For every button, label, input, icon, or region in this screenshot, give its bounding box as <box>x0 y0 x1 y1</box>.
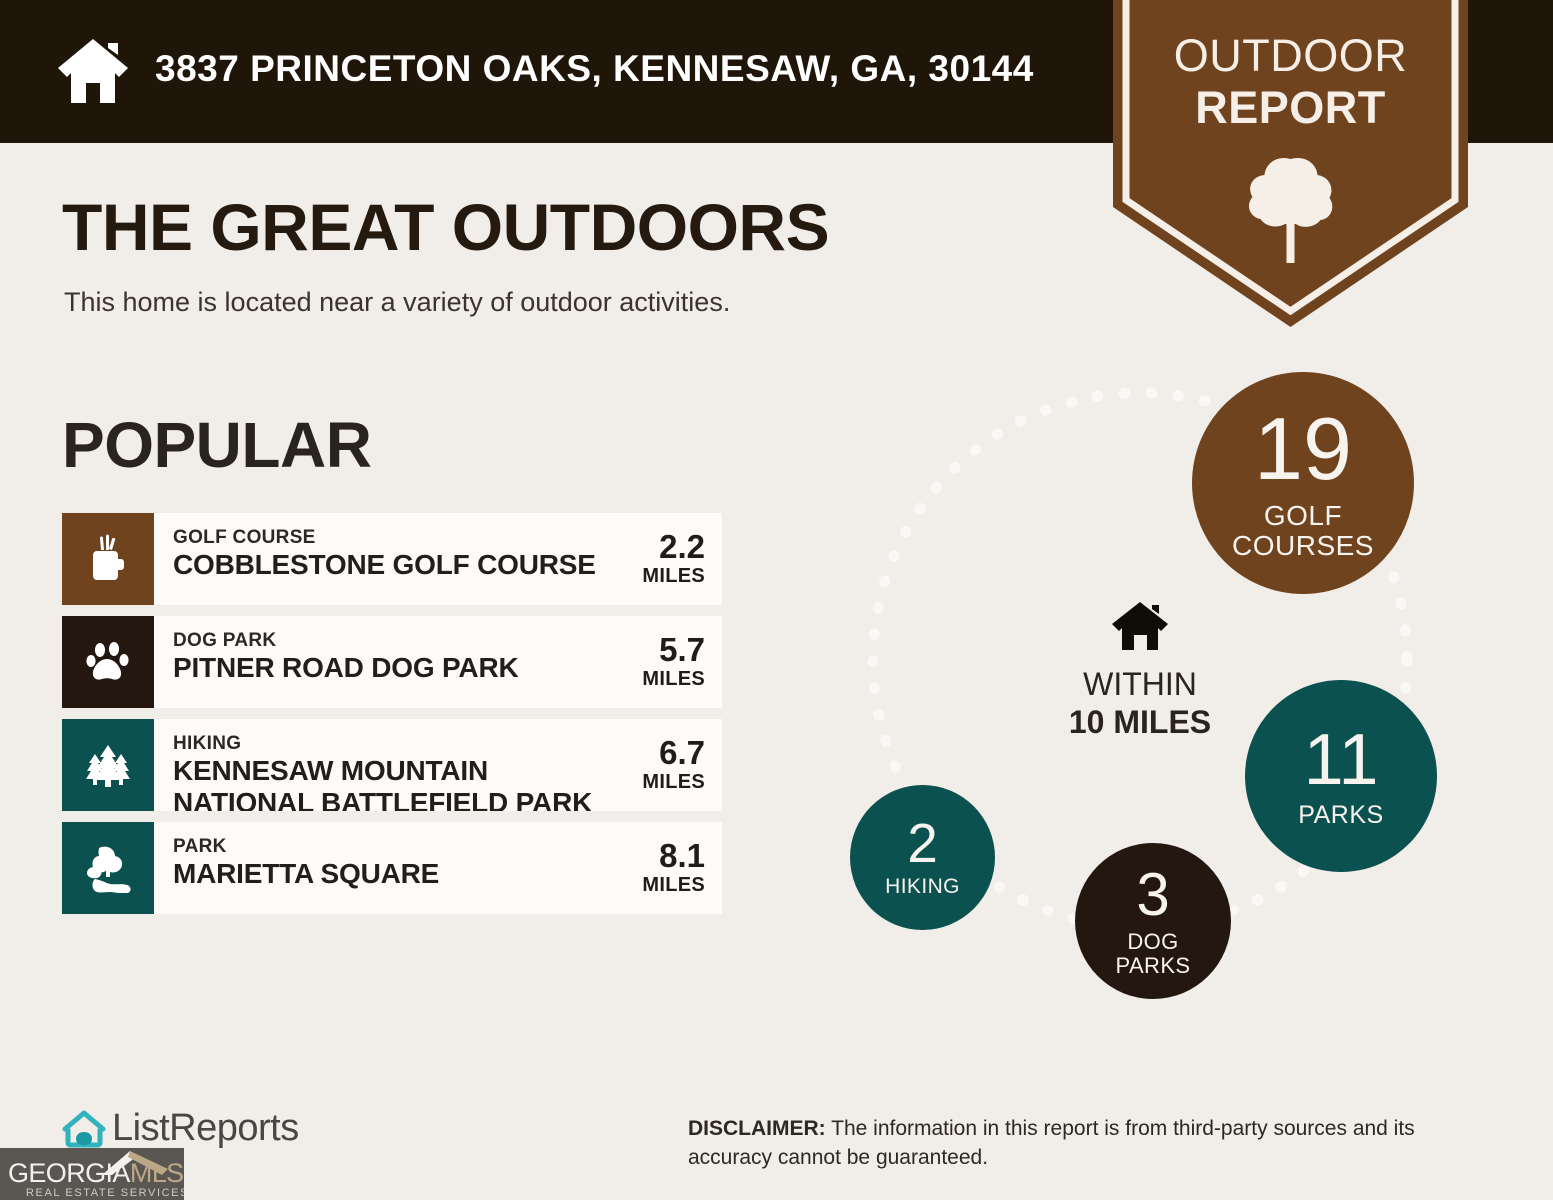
section-title-popular: POPULAR <box>62 408 371 482</box>
center-line-1: WITHIN <box>1010 665 1270 703</box>
list-item-distance: 8.1 MILES <box>622 822 722 914</box>
page-title: THE GREAT OUTDOORS <box>62 189 829 265</box>
list-item-icon-tile <box>62 513 154 605</box>
outdoor-report-badge: OUTDOOR REPORT <box>1113 0 1468 327</box>
listreports-logo[interactable]: ListReports <box>62 1107 299 1150</box>
within-10-miles-diagram: 19 GOLF COURSES 11 PARKS 3 DOG PARKS 2 H… <box>820 360 1460 1020</box>
mls-wordmark: GEORGIAMLS <box>8 1158 184 1189</box>
badge-title: OUTDOOR REPORT <box>1113 30 1468 134</box>
stat-label-line1: GOLF <box>1264 501 1342 531</box>
badge-line-2: REPORT <box>1113 82 1468 134</box>
listreports-wordmark: ListReports <box>112 1107 299 1150</box>
mls-word-georgia: GEORGIA <box>8 1158 130 1188</box>
disclaimer-label: DISCLAIMER: <box>688 1117 826 1140</box>
distance-unit: MILES <box>622 564 705 588</box>
popular-list: GOLF COURSE COBBLESTONE GOLF COURSE 2.2 … <box>62 513 722 925</box>
list-item-name: KENNESAW MOUNTAIN NATIONAL BATTLEFIELD P… <box>173 755 622 811</box>
center-line-2: 10 MILES <box>1010 703 1270 741</box>
list-item-icon-tile <box>62 616 154 708</box>
list-item-body: PARK MARIETTA SQUARE <box>154 822 622 914</box>
stat-bubble-parks[interactable]: 11 PARKS <box>1245 680 1437 872</box>
georgia-mls-watermark: GEORGIAMLS REAL ESTATE SERVICES <box>0 1148 184 1200</box>
stat-label-line2: PARKS <box>1116 954 1191 977</box>
page-subtitle: This home is located near a variety of o… <box>64 287 730 318</box>
list-item[interactable]: HIKING KENNESAW MOUNTAIN NATIONAL BATTLE… <box>62 719 722 811</box>
list-item-name: MARIETTA SQUARE <box>173 858 622 890</box>
stat-label-line2: COURSES <box>1232 531 1374 561</box>
disclaimer: DISCLAIMER: The information in this repo… <box>688 1114 1488 1172</box>
list-item[interactable]: DOG PARK PITNER ROAD DOG PARK 5.7 MILES <box>62 616 722 708</box>
distance-unit: MILES <box>622 873 705 897</box>
list-item-body: HIKING KENNESAW MOUNTAIN NATIONAL BATTLE… <box>154 719 622 811</box>
outdoor-report-page: 3837 PRINCETON OAKS, KENNESAW, GA, 30144… <box>0 0 1553 1200</box>
stat-label-line1: PARKS <box>1298 802 1383 829</box>
list-item-category: PARK <box>173 836 622 858</box>
house-icon <box>1110 600 1170 652</box>
distance-value: 8.1 <box>622 839 705 873</box>
list-item-category: GOLF COURSE <box>173 527 622 549</box>
stat-label-line1: DOG <box>1127 930 1178 953</box>
stat-bubble-dog-parks[interactable]: 3 DOG PARKS <box>1075 843 1231 999</box>
list-item-name: PITNER ROAD DOG PARK <box>173 652 622 684</box>
park-tree-icon <box>83 843 133 893</box>
list-item-category: HIKING <box>173 733 622 755</box>
list-item-body: GOLF COURSE COBBLESTONE GOLF COURSE <box>154 513 622 605</box>
list-item-name: COBBLESTONE GOLF COURSE <box>173 549 622 581</box>
list-item-distance: 6.7 MILES <box>622 719 722 811</box>
paw-print-icon <box>83 637 133 687</box>
stat-count: 3 <box>1136 865 1169 925</box>
distance-unit: MILES <box>622 667 705 691</box>
badge-line-1: OUTDOOR <box>1113 30 1468 82</box>
list-item-distance: 5.7 MILES <box>622 616 722 708</box>
distance-value: 6.7 <box>622 736 705 770</box>
listreports-house-icon <box>62 1108 106 1150</box>
list-item-distance: 2.2 MILES <box>622 513 722 605</box>
distance-value: 5.7 <box>622 633 705 667</box>
stat-bubble-golf-courses[interactable]: 19 GOLF COURSES <box>1192 372 1414 594</box>
list-item-category: DOG PARK <box>173 630 622 652</box>
list-item[interactable]: GOLF COURSE COBBLESTONE GOLF COURSE 2.2 … <box>62 513 722 605</box>
distance-value: 2.2 <box>622 530 705 564</box>
diagram-center-label: WITHIN 10 MILES <box>1010 600 1270 741</box>
pine-trees-icon <box>83 740 133 790</box>
house-icon <box>56 37 130 105</box>
property-address: 3837 PRINCETON OAKS, KENNESAW, GA, 30144 <box>155 48 1034 90</box>
list-item-icon-tile <box>62 719 154 811</box>
list-item-body: DOG PARK PITNER ROAD DOG PARK <box>154 616 622 708</box>
stat-count: 11 <box>1304 724 1379 796</box>
stat-count: 2 <box>907 816 938 871</box>
mls-tagline: REAL ESTATE SERVICES <box>26 1187 184 1199</box>
mls-word-mls: MLS <box>130 1158 184 1188</box>
stat-bubble-hiking[interactable]: 2 HIKING <box>850 785 995 930</box>
stat-count: 19 <box>1254 405 1352 493</box>
distance-unit: MILES <box>622 770 705 794</box>
list-item[interactable]: PARK MARIETTA SQUARE 8.1 MILES <box>62 822 722 914</box>
stat-label-line1: HIKING <box>885 876 960 898</box>
golf-bag-icon <box>83 534 133 584</box>
list-item-icon-tile <box>62 822 154 914</box>
